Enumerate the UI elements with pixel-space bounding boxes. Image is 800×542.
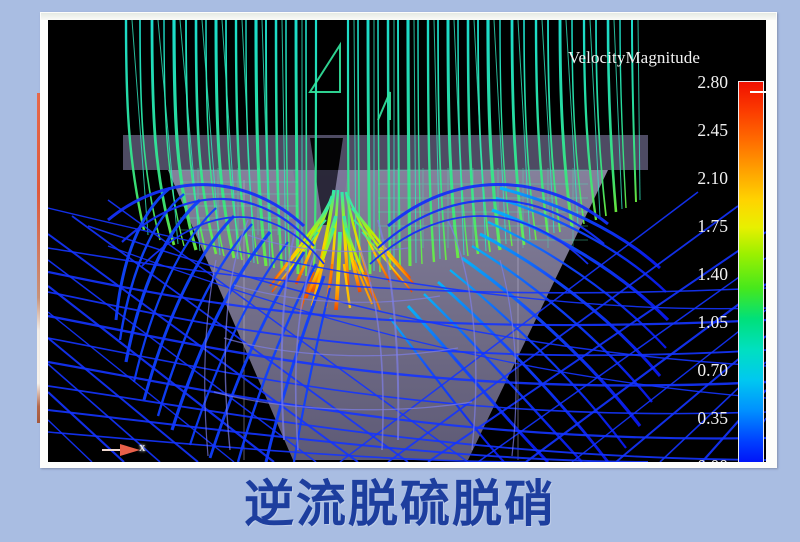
axis-label-x: x — [139, 439, 146, 455]
colorbar-max-tick — [750, 91, 766, 93]
colorbar-tick-label: 1.75 — [697, 216, 728, 237]
x-axis-arrow-icon — [100, 435, 160, 462]
colorbar-tick-label: 1.05 — [697, 312, 728, 333]
cfd-visualization-canvas: VelocityMagnitude 2.80 2.45 2.10 1.75 1.… — [48, 20, 766, 462]
axis-orientation-indicator: x — [100, 435, 160, 462]
frame-top-shade — [41, 13, 776, 20]
colorbar-tick-label: 2.10 — [697, 168, 728, 189]
colorbar-tick-label: 0.70 — [697, 360, 728, 381]
figure-caption: 逆流脱硫脱硝 — [0, 474, 800, 534]
screenshot-root: VelocityMagnitude 2.80 2.45 2.10 1.75 1.… — [0, 0, 800, 542]
colorbar-title: VelocityMagnitude — [568, 48, 700, 68]
colorbar-tick-label: 1.40 — [697, 264, 728, 285]
colorbar-tick-label: 0.35 — [697, 408, 728, 429]
colorbar-tick-label: 0.00 — [697, 456, 728, 462]
colorbar-tick-label: 2.80 — [697, 72, 728, 93]
colorbar-gradient — [738, 81, 764, 462]
colorbar-tick-label: 2.45 — [697, 120, 728, 141]
colorbar-tick-labels: 2.80 2.45 2.10 1.75 1.40 1.05 0.70 0.35 … — [648, 72, 728, 462]
